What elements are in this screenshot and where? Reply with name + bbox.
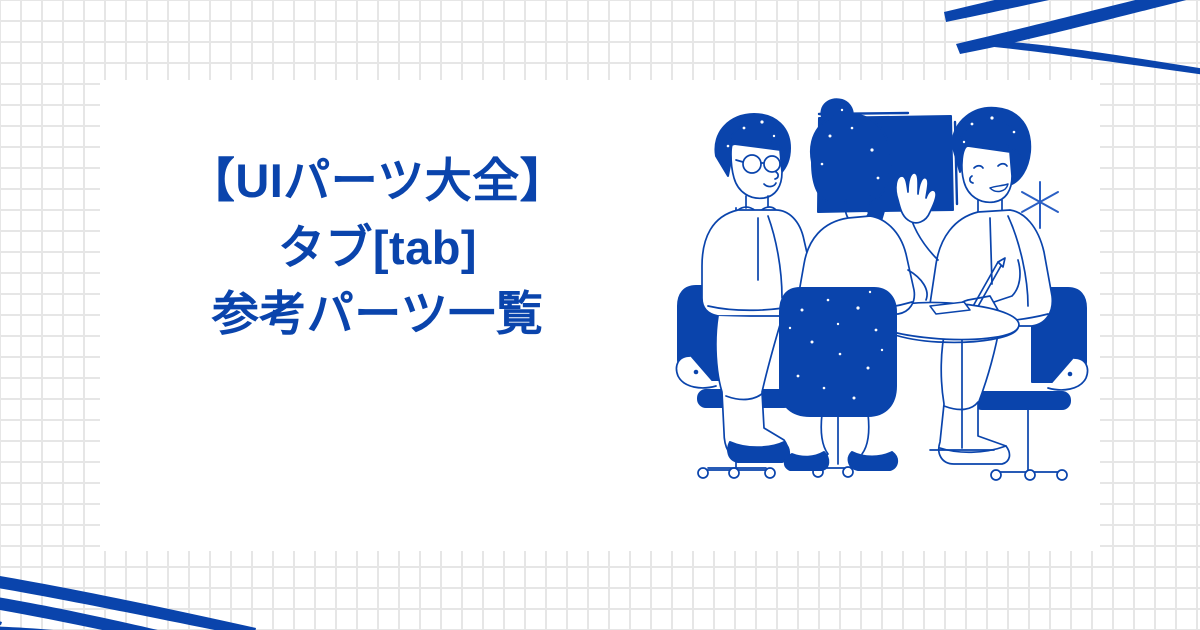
meeting-illustration: [672, 92, 1092, 542]
page-title: 【UIパーツ大全】 タブ[tab] 参考パーツ一覧: [100, 148, 655, 348]
title-line-1: 【UIパーツ大全】: [100, 148, 655, 215]
thumbnail-canvas: 【UIパーツ大全】 タブ[tab] 参考パーツ一覧: [0, 0, 1200, 630]
title-line-2: タブ[tab]: [100, 215, 655, 282]
title-line-3: 参考パーツ一覧: [100, 281, 655, 348]
